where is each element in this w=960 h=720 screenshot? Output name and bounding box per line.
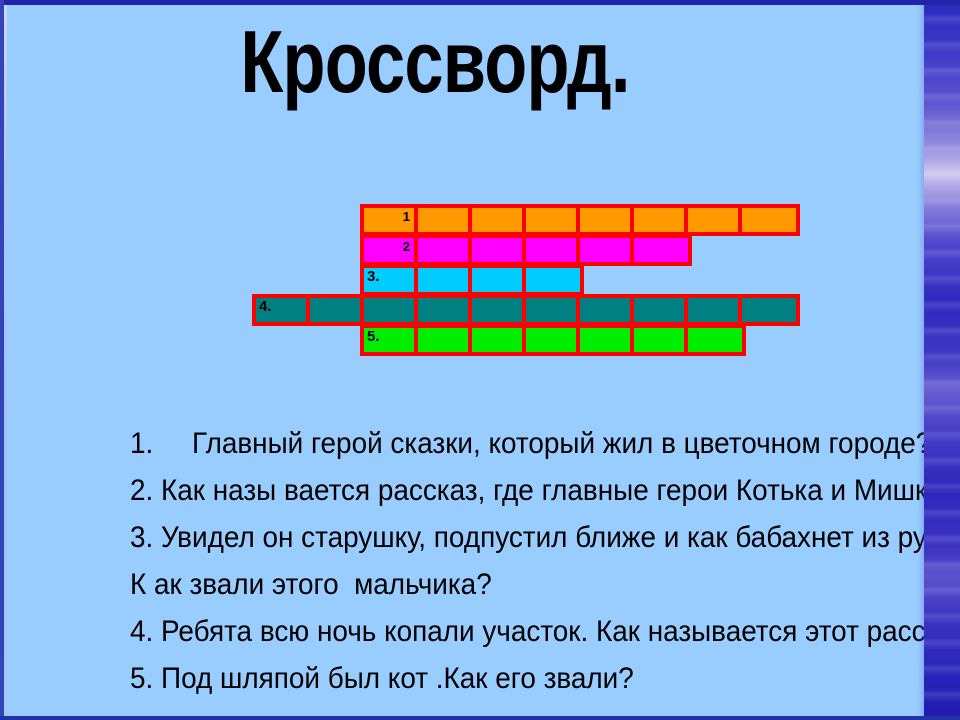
clue-line: 2. Как назы вается рассказ, где главные … (130, 467, 959, 514)
crossword-row-1[interactable]: 1 (360, 204, 800, 236)
crossword-cell[interactable] (418, 268, 472, 292)
clue-line: 4. Ребята всю ночь копали участок. Как н… (130, 608, 960, 655)
crossword-clue-number: 5. (367, 329, 380, 344)
crossword-cell[interactable] (580, 298, 634, 322)
crossword-cell[interactable] (418, 238, 472, 262)
crossword-cell[interactable] (526, 298, 580, 322)
crossword-cell[interactable] (742, 298, 796, 322)
crossword-cell[interactable] (688, 208, 742, 232)
crossword-cell[interactable] (418, 208, 472, 232)
crossword-cell[interactable] (310, 298, 364, 322)
crossword-cell[interactable] (418, 298, 472, 322)
crossword-clue-number: 1 (403, 209, 410, 224)
crossword-cell[interactable] (472, 268, 526, 292)
crossword-cell[interactable] (688, 298, 742, 322)
slide-canvas: Кроссворд. 123.4.5. 1. Главный герой ска… (0, 0, 960, 720)
crossword-row-4[interactable]: 4. (252, 294, 800, 326)
clue-line: 5. Под шляпой был кот .Как его звали? (130, 655, 634, 702)
page-title: Кроссворд. (87, 14, 783, 110)
crossword-cell[interactable] (472, 238, 526, 262)
slide-border-top (0, 0, 960, 5)
crossword-cell[interactable] (634, 208, 688, 232)
slide-border-left (0, 0, 4, 720)
crossword-clue-number: 2 (403, 239, 410, 254)
decorative-gradient-band (924, 0, 960, 720)
crossword-cell[interactable] (526, 268, 580, 292)
clue-line: 1. Главный герой сказки, который жил в ц… (130, 420, 931, 467)
crossword-cell[interactable] (634, 238, 688, 262)
crossword-row-3[interactable]: 3. (360, 264, 584, 296)
crossword-cell[interactable] (364, 298, 418, 322)
crossword-grid: 123.4.5. (0, 204, 960, 374)
slide-border-left-highlight (4, 5, 7, 720)
clue-line: К ак звали этого мальчика? (130, 561, 492, 608)
crossword-cell[interactable] (634, 328, 688, 352)
crossword-cell[interactable]: 2 (364, 238, 418, 262)
crossword-cell[interactable] (526, 208, 580, 232)
crossword-cell[interactable] (526, 238, 580, 262)
crossword-row-5[interactable]: 5. (360, 324, 746, 356)
crossword-clue-number: 3. (367, 269, 380, 284)
clue-line: 3. Увидел он старушку, подпустил ближе и… (130, 514, 960, 561)
crossword-clue-number: 4. (259, 299, 272, 314)
crossword-cell[interactable] (688, 328, 742, 352)
crossword-cell[interactable]: 4. (256, 298, 310, 322)
crossword-cell[interactable]: 3. (364, 268, 418, 292)
crossword-cell[interactable] (526, 328, 580, 352)
crossword-cell[interactable]: 5. (364, 328, 418, 352)
slide-border-bottom (0, 716, 960, 720)
crossword-cell[interactable] (472, 298, 526, 322)
crossword-cell[interactable] (580, 208, 634, 232)
crossword-cell[interactable] (472, 208, 526, 232)
crossword-cell[interactable] (580, 328, 634, 352)
crossword-cell[interactable] (634, 298, 688, 322)
crossword-row-2[interactable]: 2 (360, 234, 692, 266)
crossword-cell[interactable]: 1 (364, 208, 418, 232)
crossword-cell[interactable] (742, 208, 796, 232)
crossword-cell[interactable] (418, 328, 472, 352)
crossword-cell[interactable] (580, 238, 634, 262)
crossword-cell[interactable] (472, 328, 526, 352)
